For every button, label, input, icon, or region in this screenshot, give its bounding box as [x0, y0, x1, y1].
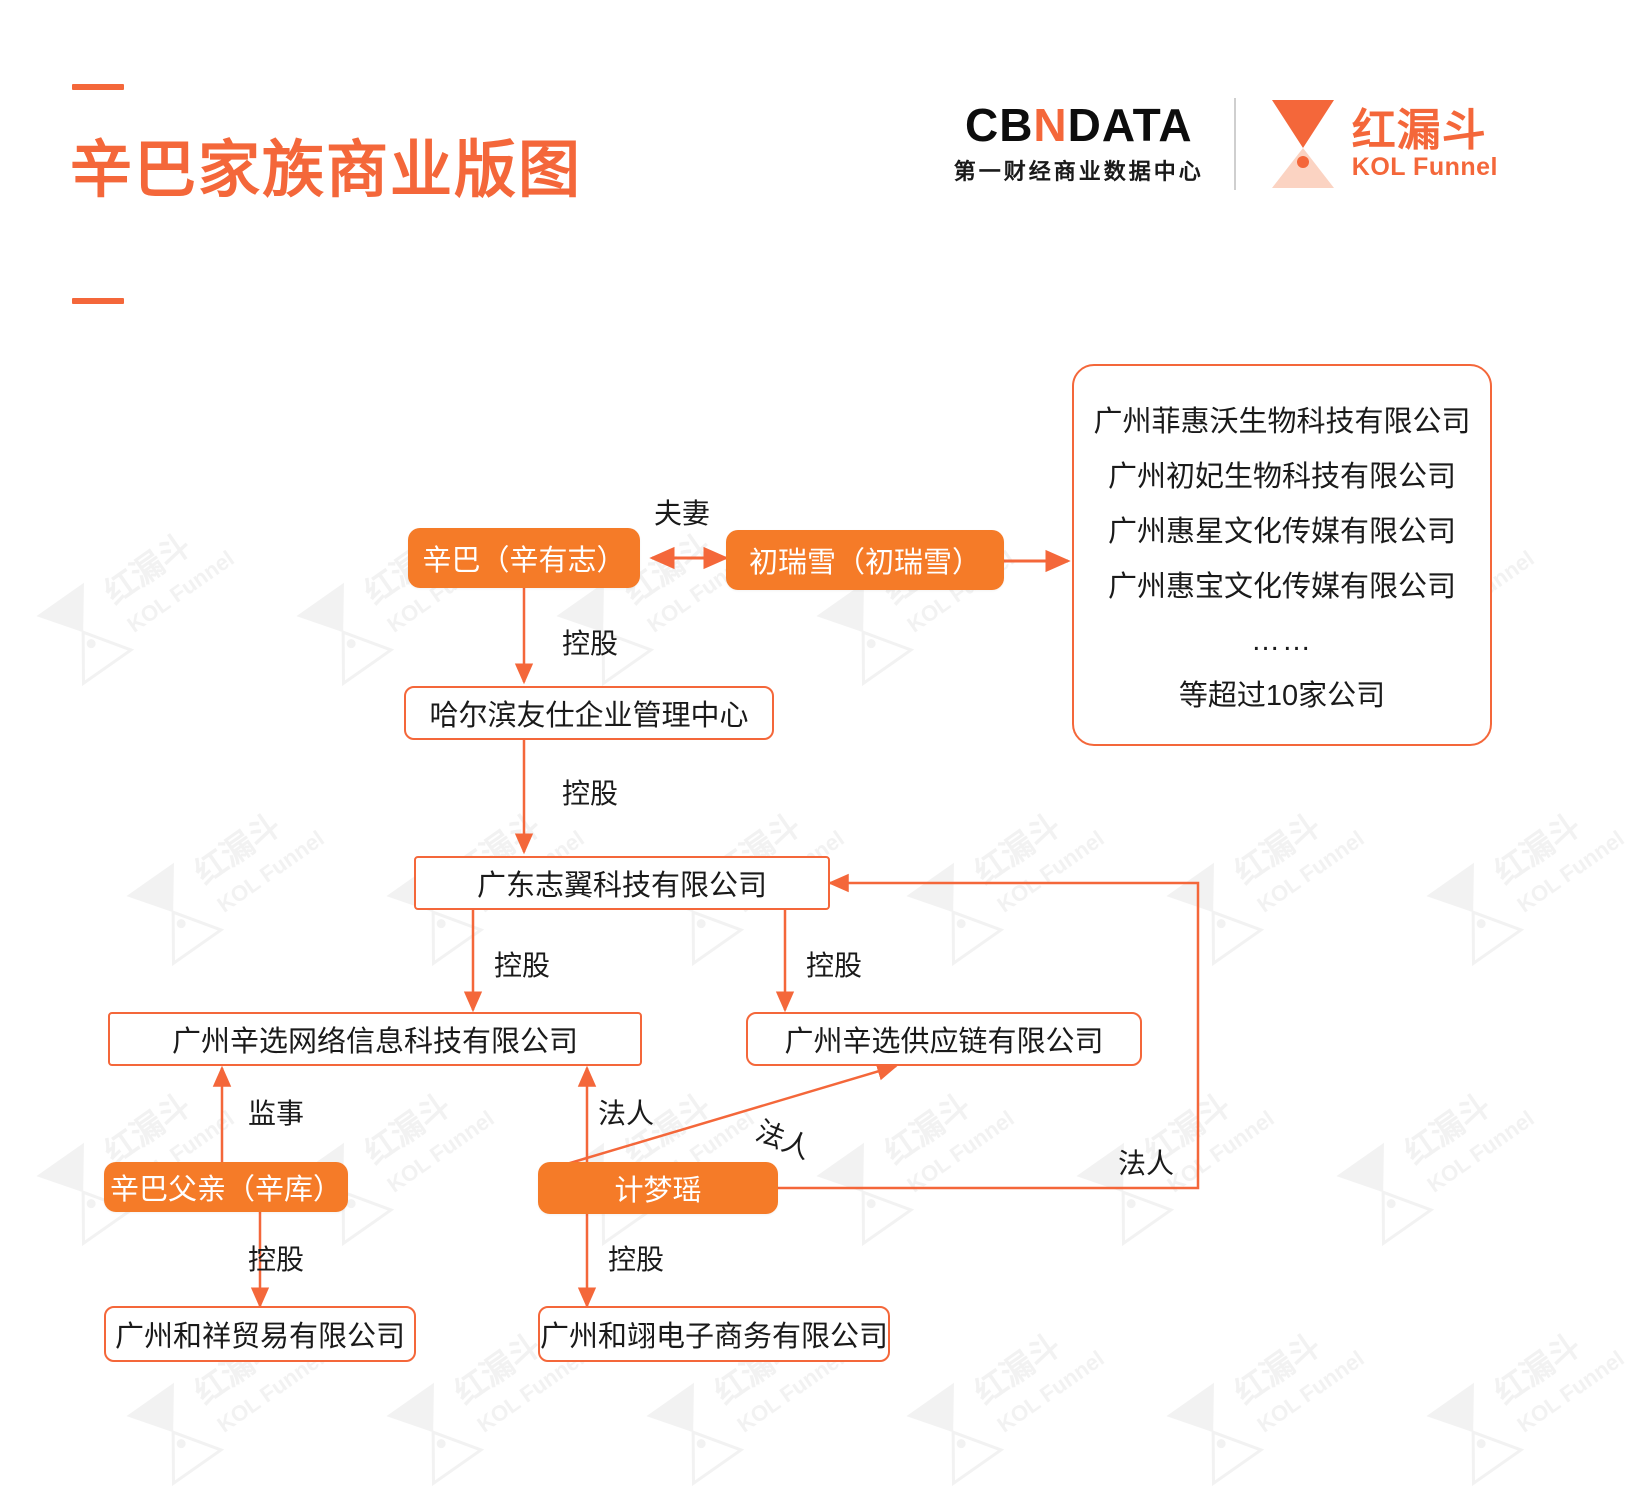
node-xinba-father[interactable]: 辛巴父亲（辛库）	[104, 1162, 348, 1212]
node-heyi[interactable]: 广州和翊电子商务有限公司	[538, 1306, 890, 1362]
node-xinxuan-network[interactable]: 广州辛选网络信息科技有限公司	[108, 1012, 642, 1066]
company-list-item: 广州惠星文化传媒有限公司	[1108, 505, 1456, 560]
node-hexiang[interactable]: 广州和祥贸易有限公司	[104, 1306, 416, 1362]
node-churuixue[interactable]: 初瑞雪（初瑞雪）	[726, 530, 1004, 590]
company-list-ellipsis: ……	[1251, 615, 1313, 664]
edge-label-holding-3: 控股	[494, 944, 550, 984]
edge-label-holding-6: 控股	[608, 1238, 664, 1278]
company-list-panel: 广州菲惠沃生物科技有限公司 广州初妃生物科技有限公司 广州惠星文化传媒有限公司 …	[1072, 364, 1492, 746]
company-list-item: 广州惠宝文化传媒有限公司	[1108, 560, 1456, 615]
infographic-page: 红漏斗KOL Funnel红漏斗KOL Funnel红漏斗KOL Funnel红…	[0, 0, 1648, 1486]
node-jimengyao[interactable]: 计梦瑶	[538, 1162, 778, 1214]
edge-label-holding-5: 控股	[248, 1238, 304, 1278]
edge-label-holding-2: 控股	[562, 772, 618, 812]
company-list-item: 广州菲惠沃生物科技有限公司	[1093, 395, 1470, 450]
company-list-item: 广州初妃生物科技有限公司	[1108, 450, 1456, 505]
org-chart-diagram: 辛巴（辛有志） 初瑞雪（初瑞雪） 哈尔滨友仕企业管理中心 广东志翼科技有限公司 …	[0, 0, 1648, 1486]
edge-label-legal-person-3: 法人	[1118, 1142, 1174, 1182]
node-guangdong-zhiyi[interactable]: 广东志翼科技有限公司	[414, 856, 830, 910]
edge-label-spouse: 夫妻	[654, 492, 710, 532]
edge-label-holding-4: 控股	[806, 944, 862, 984]
node-xinba[interactable]: 辛巴（辛有志）	[408, 528, 640, 588]
node-haerbin[interactable]: 哈尔滨友仕企业管理中心	[404, 686, 774, 740]
node-xinxuan-supply[interactable]: 广州辛选供应链有限公司	[746, 1012, 1142, 1066]
edge-label-supervisor: 监事	[248, 1092, 304, 1132]
company-list-more: 等超过10家公司	[1179, 664, 1385, 716]
edge-label-holding-1: 控股	[562, 622, 618, 662]
edge-label-legal-person-1: 法人	[598, 1092, 654, 1132]
